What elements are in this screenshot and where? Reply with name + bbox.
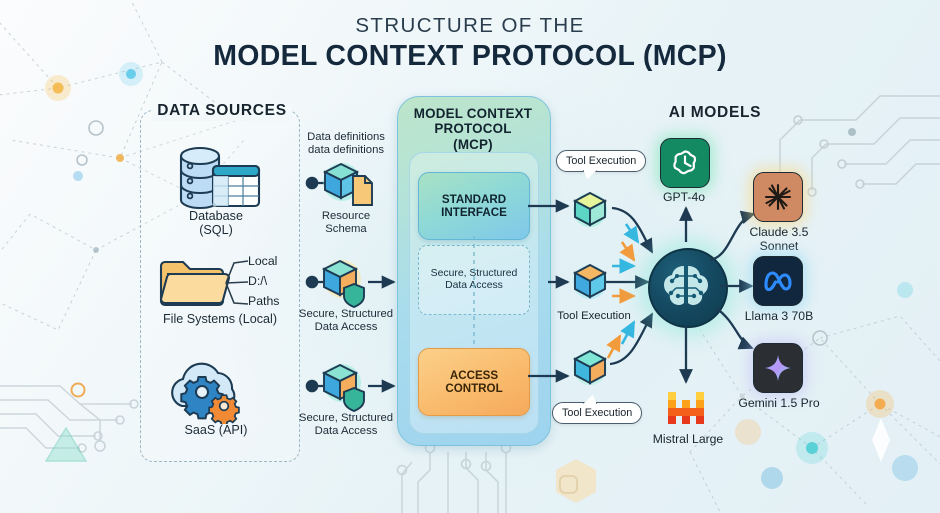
model-label-gpt4o: GPT-4o — [648, 190, 720, 204]
model-card-llama[interactable] — [753, 256, 803, 306]
cube-shield-icon — [318, 362, 372, 412]
connector-top-caption-0: Data definitions data definitions — [300, 131, 392, 157]
folder-annotation-paths: Paths — [248, 294, 279, 308]
model-label-claude: Claude 3.5 Sonnet — [734, 225, 824, 253]
bubble-tail — [583, 170, 597, 179]
ai-models-title: AI MODELS — [640, 104, 790, 122]
folder-annotation-local: Local — [248, 254, 277, 268]
claude-icon — [762, 181, 794, 213]
model-card-gemini[interactable] — [753, 343, 803, 393]
mistral-icon — [662, 384, 710, 432]
bubble-tail — [583, 395, 597, 404]
model-label-llama: Llama 3 70B — [732, 309, 826, 323]
data-source-label-saas: SaaS (API) — [150, 423, 282, 437]
cube-document-icon — [320, 160, 376, 210]
model-card-mistral[interactable] — [662, 384, 710, 432]
model-card-claude[interactable] — [753, 172, 803, 222]
infographic-canvas: STRUCTURE OF THE MODEL CONTEXT PROTOCOL … — [0, 0, 940, 513]
model-label-mistral: Mistral Large — [636, 432, 740, 446]
mcp-title: MODEL CONTEXT PROTOCOL (MCP) — [401, 106, 545, 152]
model-card-gpt4o[interactable] — [660, 138, 710, 188]
model-label-gemini: Gemini 1.5 Pro — [724, 396, 834, 410]
folder-icon — [155, 252, 233, 312]
data-source-label-filesystems: File Systems (Local) — [142, 312, 298, 326]
page-eyebrow: STRUCTURE OF THE — [0, 14, 940, 38]
page-title: MODEL CONTEXT PROTOCOL (MCP) — [0, 40, 940, 73]
folder-annotation-drive: D:/\ — [248, 274, 267, 288]
gemini-icon — [762, 352, 794, 384]
openai-icon — [669, 147, 701, 179]
tool-execution-bubble-bottom: Tool Execution — [552, 402, 642, 424]
meta-icon — [761, 264, 795, 298]
data-source-label-database: Database (SQL) — [150, 209, 282, 237]
cube-shield-icon — [318, 258, 372, 308]
mcp-internal-dashed-link — [470, 236, 478, 352]
database-icon — [168, 142, 264, 214]
cloud-gear-icon — [160, 356, 252, 424]
standard-interface-block[interactable]: STANDARD INTERFACE — [418, 172, 530, 240]
tool-execution-bubble-top: Tool Execution — [556, 150, 646, 172]
connector-caption-0: Resource Schema — [300, 210, 392, 236]
folder-path-connector-lines — [224, 253, 250, 311]
data-sources-title: DATA SOURCES — [152, 101, 292, 121]
access-control-block[interactable]: ACCESS CONTROL — [418, 348, 530, 416]
